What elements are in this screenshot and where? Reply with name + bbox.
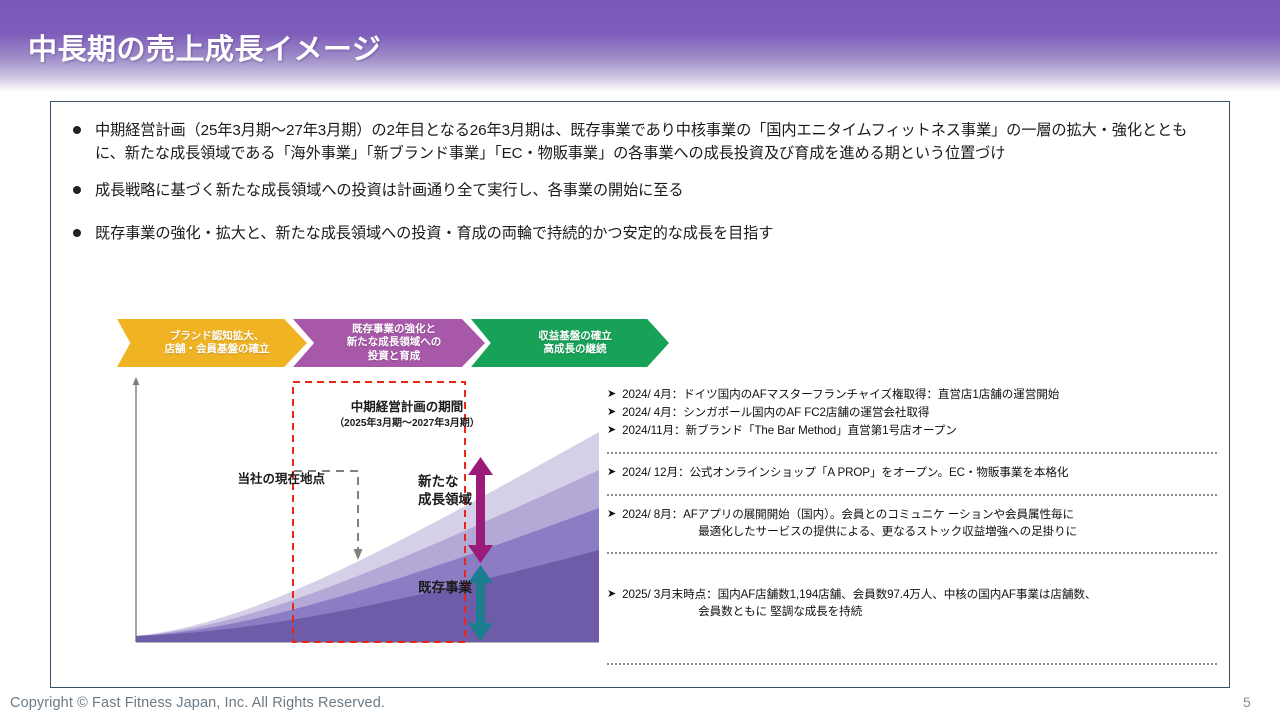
annotation-separator-3: [607, 552, 1217, 554]
bullet-list: 中期経営計画（25年3月期〜27年3月期）の2年目となる26年3月期は、既存事業…: [67, 119, 1215, 245]
new-growth-label-line2: 成長領域: [418, 491, 538, 509]
bullet-dot-icon: [73, 229, 81, 237]
content-panel: 中期経営計画（25年3月期〜27年3月期）の2年目となる26年3月期は、既存事業…: [50, 101, 1230, 688]
phase-arrow-3-line2: 高成長の継続: [538, 343, 612, 356]
phase-arrow-1: ブランド認知拡大、 店舗・会員基盤の確立: [117, 319, 307, 367]
annotation-1-3: 2024/11月：新ブランド「The Bar Method」直営第1号店オープン: [622, 422, 1217, 439]
copyright-text: Copyright © Fast Fitness Japan, Inc. All…: [10, 695, 385, 711]
chevron-right-icon: ➤: [607, 422, 616, 440]
phase-arrow-3-line1: 収益基盤の確立: [538, 330, 612, 343]
annotation-separator-2: [607, 494, 1217, 496]
phase-arrow-1-line2: 店舗・会員基盤の確立: [165, 343, 270, 356]
bullet-text-2-wrapper: 成長戦略に基づく新たな成長領域への投資は計画通り全て実行し、各事業の開始に至る: [95, 179, 1215, 202]
list-item: 既存事業の強化・拡大と、新たな成長領域への投資・育成の両輪で持続的かつ安定的な成…: [67, 222, 1215, 245]
chevron-right-icon: ➤: [607, 506, 616, 524]
annotation-group-1: ➤ 2024/ 4月：ドイツ国内のAFマスターフランチャイズ権取得：直営店1店舗…: [607, 386, 1217, 439]
plan-period-subtitle: （2025年3月期〜2027年3月期）: [317, 417, 497, 430]
chart-y-axis-arrowhead: [133, 377, 140, 385]
annotation-3-1: 2024/ 8月：AFアプリの展開開始（国内）。会員とのコミュニケ ーションや会…: [622, 508, 1074, 521]
list-item: 成長戦略に基づく新たな成長領域への投資は計画通り全て実行し、各事業の開始に至る: [67, 179, 1215, 202]
slide-header: 中長期の売上成長イメージ: [0, 0, 1280, 92]
annotation-item: ➤ 2024/11月：新ブランド「The Bar Method」直営第1号店オー…: [607, 422, 1217, 440]
phase-arrow-1-line1: ブランド認知拡大、: [165, 330, 270, 343]
bullet-dot-icon: [73, 126, 81, 134]
current-point-arrowhead: [354, 549, 363, 560]
annotation-4-1-cont: 会員数ともに 堅調な成長を持続: [622, 603, 1217, 620]
annotation-list: ➤ 2024/ 4月：ドイツ国内のAFマスターフランチャイズ権取得：直営店1店舗…: [607, 386, 1217, 672]
annotation-item: ➤ 2025/ 3月末時点：国内AF店舗数1,194店舗、会員数97.4万人、中…: [607, 586, 1217, 621]
bullet-text-3: 既存事業の強化・拡大と、新たな成長領域への投資・育成の両輪で持続的かつ安定的な成…: [95, 222, 1215, 245]
current-point-label: 当社の現在地点: [201, 471, 325, 487]
annotation-3-1-cont: 最適化したサービスの提供による、更なるストック収益増強への足掛りに: [622, 523, 1217, 540]
bullet-dot-icon: [73, 186, 81, 194]
new-growth-label: 新たな 成長領域: [418, 473, 538, 509]
phase-arrow-2-line3: 投資と育成: [347, 350, 442, 363]
chevron-right-icon: ➤: [607, 404, 616, 422]
annotation-separator-1: [607, 452, 1217, 454]
annotation-group-3: ➤ 2024/ 8月：AFアプリの展開開始（国内）。会員とのコミュニケ ーション…: [607, 506, 1217, 541]
annotation-1-2: 2024/ 4月：シンガポール国内のAF FC2店舗の運営会社取得: [622, 404, 1217, 421]
annotation-group-2: ➤ 2024/ 12月：公式オンラインショップ「A PROP」をオープン。EC・…: [607, 464, 1217, 482]
existing-business-label: 既存事業: [418, 579, 538, 597]
plan-period-label: 中期経営計画の期間 （2025年3月期〜2027年3月期）: [317, 399, 497, 430]
plan-period-title: 中期経営計画の期間: [351, 400, 464, 414]
page-title: 中長期の売上成長イメージ: [28, 26, 381, 68]
chevron-right-icon: ➤: [607, 464, 616, 482]
annotation-1-1: 2024/ 4月：ドイツ国内のAFマスターフランチャイズ権取得：直営店1店舗の運…: [622, 386, 1217, 403]
annotation-2-1: 2024/ 12月：公式オンラインショップ「A PROP」をオープン。EC・物販…: [622, 464, 1217, 481]
phase-arrow-2-line1: 既存事業の強化と: [347, 323, 442, 336]
phase-arrow-band: ブランド認知拡大、 店舗・会員基盤の確立 既存事業の強化と 新たな成長領域への …: [117, 319, 683, 367]
annotation-3-1-wrapper: 2024/ 8月：AFアプリの展開開始（国内）。会員とのコミュニケ ーションや会…: [622, 506, 1217, 541]
annotation-item: ➤ 2024/ 4月：ドイツ国内のAFマスターフランチャイズ権取得：直営店1店舗…: [607, 386, 1217, 404]
annotation-item: ➤ 2024/ 8月：AFアプリの展開開始（国内）。会員とのコミュニケ ーション…: [607, 506, 1217, 541]
phase-arrow-2-line2: 新たな成長領域への: [347, 336, 442, 349]
list-item: 中期経営計画（25年3月期〜27年3月期）の2年目となる26年3月期は、既存事業…: [67, 119, 1215, 165]
annotation-separator-4: [607, 663, 1217, 665]
annotation-4-1: 2025/ 3月末時点：国内AF店舗数1,194店舗、会員数97.4万人、中核の…: [622, 588, 1096, 601]
new-growth-label-line1: 新たな: [418, 473, 538, 491]
chevron-right-icon: ➤: [607, 586, 616, 604]
annotation-4-1-wrapper: 2025/ 3月末時点：国内AF店舗数1,194店舗、会員数97.4万人、中核の…: [622, 586, 1217, 621]
growth-area-chart: 中期経営計画の期間 （2025年3月期〜2027年3月期） 当社の現在地点 新た…: [81, 374, 641, 659]
annotation-group-4: ➤ 2025/ 3月末時点：国内AF店舗数1,194店舗、会員数97.4万人、中…: [607, 586, 1217, 621]
bullet-text-1: 中期経営計画（25年3月期〜27年3月期）の2年目となる26年3月期は、既存事業…: [95, 119, 1215, 165]
chevron-right-icon: ➤: [607, 386, 616, 404]
bullet-text-2: 成長戦略に基づく新たな成長領域への投資は計画通り全て実行し、各事業の開始に至る: [95, 182, 683, 199]
phase-arrow-2: 既存事業の強化と 新たな成長領域への 投資と育成: [293, 319, 485, 367]
annotation-item: ➤ 2024/ 12月：公式オンラインショップ「A PROP」をオープン。EC・…: [607, 464, 1217, 482]
page-number: 5: [1243, 694, 1251, 710]
phase-arrow-3: 収益基盤の確立 高成長の継続: [471, 319, 669, 367]
annotation-item: ➤ 2024/ 4月：シンガポール国内のAF FC2店舗の運営会社取得: [607, 404, 1217, 422]
